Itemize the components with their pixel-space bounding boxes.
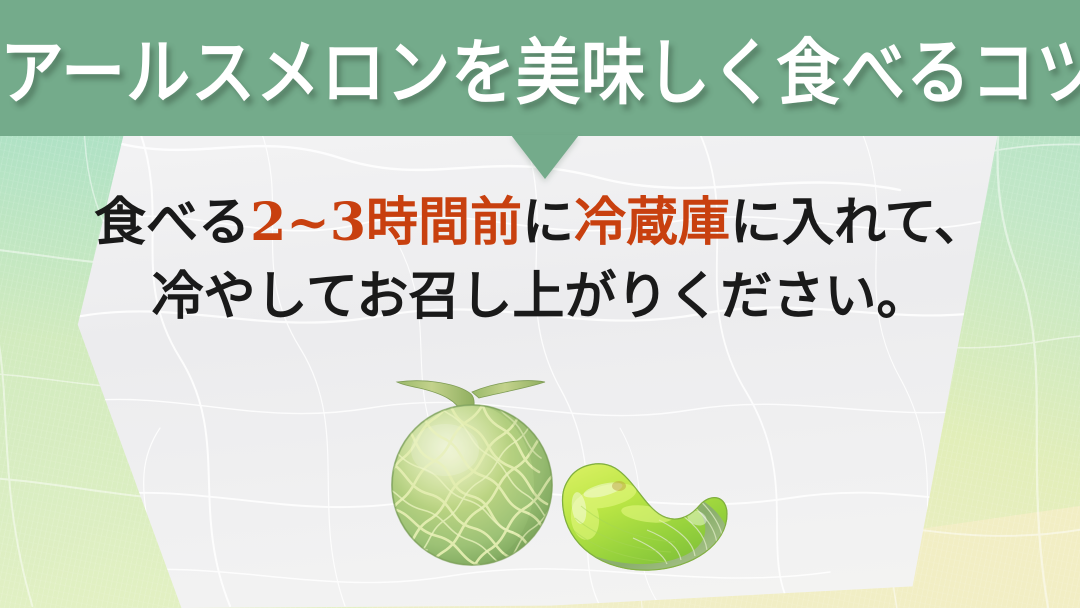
message-line-2: 冷やしてお召し上がりください。 — [0, 260, 1080, 334]
header-notch-triangle-icon — [511, 135, 579, 179]
message-seg-3: に入れて、 — [730, 192, 986, 253]
message-seg-2: に — [522, 192, 574, 253]
message-block: 食べる2~3時間前に冷蔵庫に入れて、 冷やしてお召し上がりください。 — [0, 186, 1080, 334]
melon-slice-icon — [561, 464, 731, 579]
whole-netted-melon-icon — [375, 372, 565, 582]
page-title: アールスメロンを美味しく食べるコツ! — [0, 18, 1080, 130]
banner-canvas: アールスメロンを美味しく食べるコツ! 食べる2~3時間前に冷蔵庫に入れて、 冷や… — [0, 0, 1080, 608]
message-seg-1: 食べる — [94, 192, 250, 253]
message-line-1: 食べる2~3時間前に冷蔵庫に入れて、 — [0, 186, 1080, 260]
message-highlight-fridge: 冷蔵庫 — [574, 192, 730, 253]
message-highlight-time: 2~3時間前 — [250, 192, 522, 253]
melon-illustration — [375, 368, 735, 598]
